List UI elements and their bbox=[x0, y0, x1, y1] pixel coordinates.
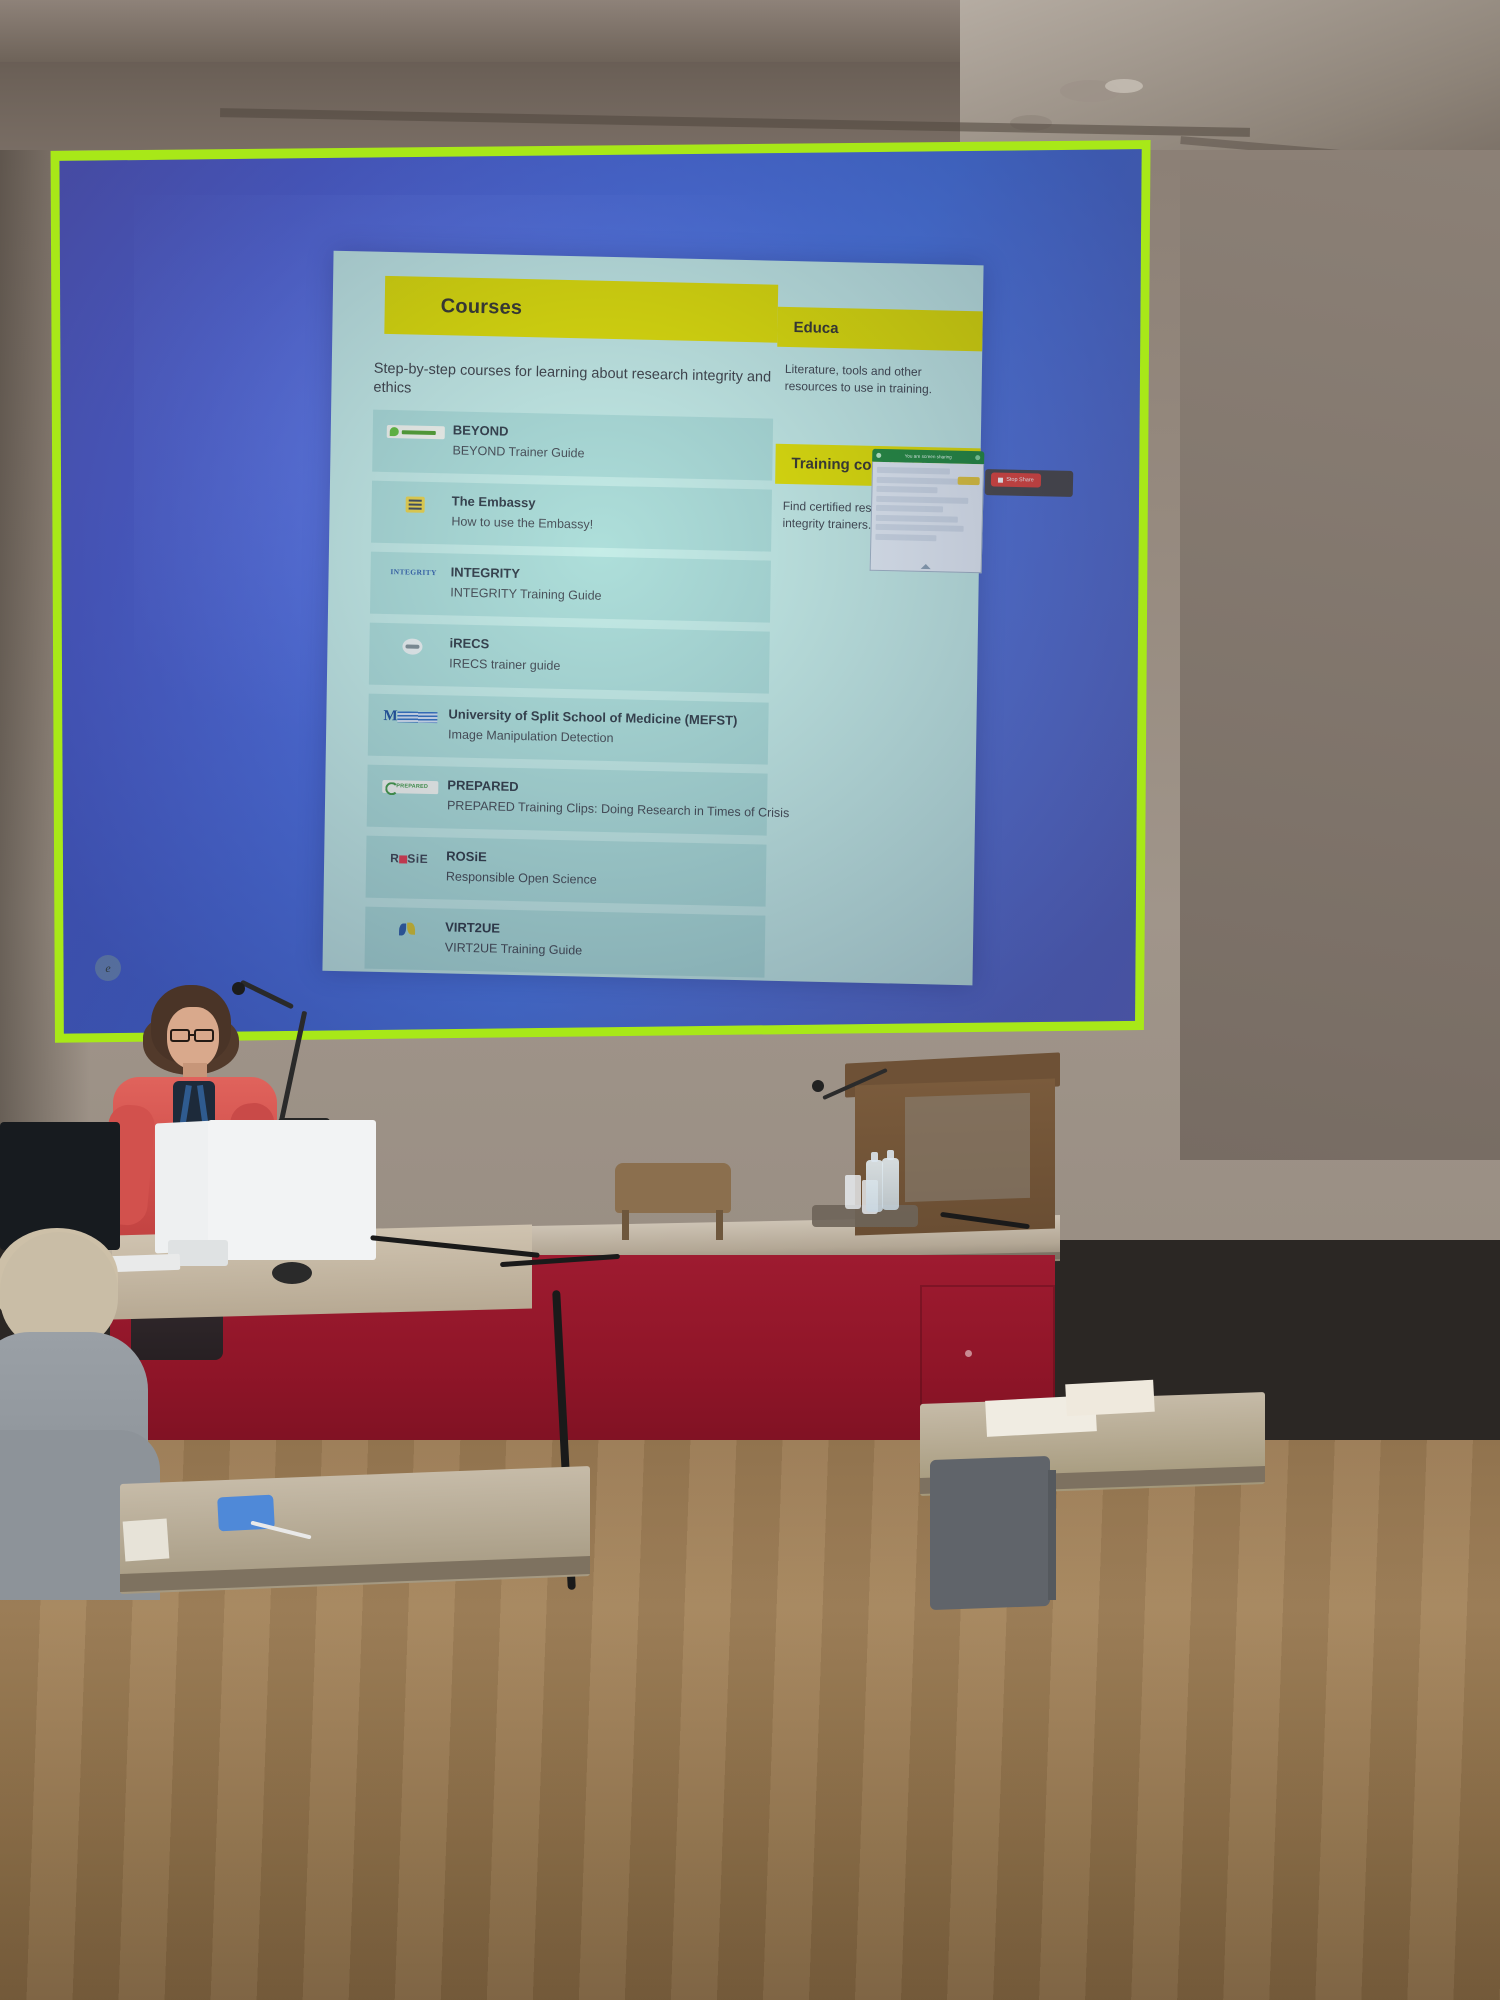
projection-vignette bbox=[45, 140, 1155, 1050]
water-glass bbox=[845, 1175, 861, 1209]
ceiling-light-icon bbox=[1105, 79, 1143, 93]
microphone-head-icon bbox=[232, 982, 245, 995]
laptop-lid bbox=[155, 1120, 215, 1253]
stage-panel-knob bbox=[965, 1350, 972, 1357]
chair-leg bbox=[716, 1210, 723, 1240]
chair-leg bbox=[1048, 1470, 1056, 1600]
lectern-panel bbox=[905, 1093, 1030, 1202]
microphone-head-icon bbox=[812, 1080, 824, 1092]
chair bbox=[930, 1456, 1050, 1610]
chair bbox=[615, 1163, 731, 1213]
papers-stack bbox=[110, 1254, 181, 1272]
equipment-box bbox=[208, 1120, 376, 1260]
glasses-left-lens-icon bbox=[170, 1029, 190, 1042]
glasses-bridge-icon bbox=[190, 1034, 194, 1036]
water-bottle bbox=[866, 1160, 883, 1212]
computer-mouse[interactable] bbox=[272, 1262, 312, 1284]
right-wall bbox=[1180, 160, 1500, 1160]
water-bottle bbox=[882, 1158, 899, 1210]
projection-screen: Courses Step-by-step courses for learnin… bbox=[45, 140, 1155, 1050]
glasses-right-lens-icon bbox=[194, 1029, 214, 1042]
paper-sheet bbox=[123, 1519, 170, 1562]
chair-leg bbox=[622, 1210, 629, 1240]
paper-sheet bbox=[1065, 1380, 1155, 1417]
lecture-hall-photo: Courses Step-by-step courses for learnin… bbox=[0, 0, 1500, 2000]
